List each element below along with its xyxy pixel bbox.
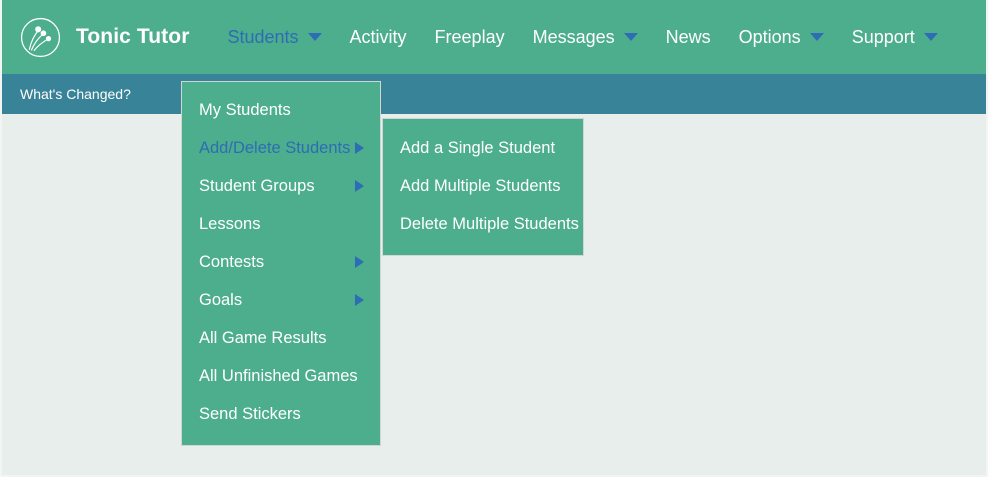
submenu-item-delete-multiple-students-label: Delete Multiple Students bbox=[400, 215, 579, 234]
chevron-down-icon bbox=[810, 33, 824, 41]
nav-item-students-label: Students bbox=[227, 28, 298, 46]
submenu-item-add-a-single-student-label: Add a Single Student bbox=[400, 139, 567, 158]
nav-item-activity-label: Activity bbox=[350, 28, 407, 46]
menu-item-send-stickers-label: Send Stickers bbox=[199, 405, 364, 424]
submenu-item-add-multiple-students-label: Add Multiple Students bbox=[400, 177, 567, 196]
nav-item-news-label: News bbox=[666, 28, 711, 46]
nav-item-news[interactable]: News bbox=[652, 28, 725, 46]
menu-item-lessons-label: Lessons bbox=[199, 215, 364, 234]
secondary-bar: What's Changed? bbox=[2, 74, 988, 114]
chevron-right-icon bbox=[355, 142, 364, 154]
chevron-down-icon bbox=[924, 33, 938, 41]
menu-item-goals[interactable]: Goals bbox=[182, 281, 380, 319]
chevron-down-icon bbox=[624, 33, 638, 41]
nav-item-options-label: Options bbox=[739, 28, 801, 46]
menu-item-my-students[interactable]: My Students bbox=[182, 91, 380, 129]
nav-item-support-label: Support bbox=[852, 28, 915, 46]
menu-item-send-stickers[interactable]: Send Stickers bbox=[182, 395, 380, 433]
submenu-item-add-a-single-student[interactable]: Add a Single Student bbox=[383, 129, 583, 167]
menu-item-student-groups[interactable]: Student Groups bbox=[182, 167, 380, 205]
nav-item-support[interactable]: Support bbox=[838, 28, 952, 46]
submenu-item-add-multiple-students[interactable]: Add Multiple Students bbox=[383, 167, 583, 205]
chevron-down-icon bbox=[308, 33, 322, 41]
menu-item-contests-label: Contests bbox=[199, 253, 355, 272]
page-root: Tonic Tutor Students Activity Freeplay M… bbox=[0, 0, 988, 477]
menu-item-contests[interactable]: Contests bbox=[182, 243, 380, 281]
tonic-tutor-notes-logo-icon bbox=[20, 17, 61, 58]
main-navigation: Students Activity Freeplay Messages News… bbox=[213, 28, 951, 46]
nav-item-messages[interactable]: Messages bbox=[519, 28, 652, 46]
menu-item-student-groups-label: Student Groups bbox=[199, 177, 355, 196]
menu-item-add-delete-students-label: Add/Delete Students bbox=[199, 139, 355, 158]
menu-item-all-unfinished-games[interactable]: All Unfinished Games bbox=[182, 357, 380, 395]
nav-item-activity[interactable]: Activity bbox=[336, 28, 421, 46]
submenu-item-delete-multiple-students[interactable]: Delete Multiple Students bbox=[383, 205, 583, 243]
menu-item-add-delete-students[interactable]: Add/Delete Students bbox=[182, 129, 380, 167]
nav-item-students[interactable]: Students bbox=[213, 28, 335, 46]
brand-logo-link[interactable]: Tonic Tutor bbox=[20, 17, 189, 58]
nav-item-messages-label: Messages bbox=[533, 28, 615, 46]
subbar-item-whats-changed[interactable]: What's Changed? bbox=[20, 86, 131, 102]
menu-item-all-unfinished-games-label: All Unfinished Games bbox=[199, 367, 364, 386]
menu-item-my-students-label: My Students bbox=[199, 101, 364, 120]
chevron-right-icon bbox=[355, 294, 364, 306]
chevron-right-icon bbox=[355, 256, 364, 268]
brand-name: Tonic Tutor bbox=[76, 25, 189, 49]
menu-item-goals-label: Goals bbox=[199, 291, 355, 310]
chevron-right-icon bbox=[355, 180, 364, 192]
nav-item-options[interactable]: Options bbox=[725, 28, 838, 46]
menu-item-all-game-results[interactable]: All Game Results bbox=[182, 319, 380, 357]
add-delete-students-submenu: Add a Single Student Add Multiple Studen… bbox=[382, 118, 584, 256]
menu-item-all-game-results-label: All Game Results bbox=[199, 329, 364, 348]
nav-item-freeplay-label: Freeplay bbox=[435, 28, 505, 46]
nav-item-freeplay[interactable]: Freeplay bbox=[421, 28, 519, 46]
menu-item-lessons[interactable]: Lessons bbox=[182, 205, 380, 243]
students-dropdown-menu: My Students Add/Delete Students Student … bbox=[181, 81, 381, 446]
site-header: Tonic Tutor Students Activity Freeplay M… bbox=[2, 0, 988, 74]
